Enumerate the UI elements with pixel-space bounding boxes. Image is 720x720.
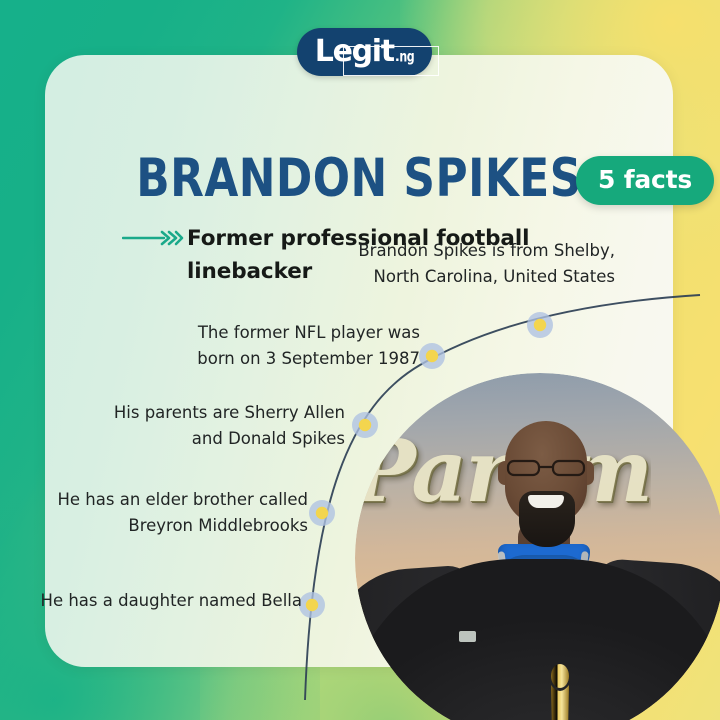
page-title: BRANDON SPIKES [70,148,648,209]
gold-trophy-icon [543,663,577,720]
brandon-spikes-portrait: Paramount [355,373,720,720]
legit-ng-logo[interactable]: Legit.ng Legit .ng [297,28,432,76]
facts-count-badge: 5 facts [576,156,714,205]
logo-tld: .ng [395,51,414,64]
fact-item: His parents are Sherry Allen and Donald … [85,400,345,451]
paramount-logo-text: Paramount [355,429,651,545]
fact-item: Brandon Spikes is from Shelby, North Car… [315,238,615,289]
logo-wordmark: Legit.ng Legit [315,37,394,67]
mouth [528,495,564,508]
arrow-right-double-chevron-icon [122,229,184,247]
fact-item: The former NFL player was born on 3 Sept… [160,320,420,371]
fact-item: He has an elder brother called Breyron M… [38,487,308,538]
logo-ng-text: ng [399,49,414,64]
logo-letters-egit: egit [333,34,394,69]
eyeglasses-icon [505,458,587,478]
infographic-poster: BRANDON SPIKES Former professional footb… [0,0,720,720]
fact-item: He has a daughter named Bella [32,588,302,614]
logo-letter-L: L [315,34,333,69]
lapel-pin [459,631,476,642]
